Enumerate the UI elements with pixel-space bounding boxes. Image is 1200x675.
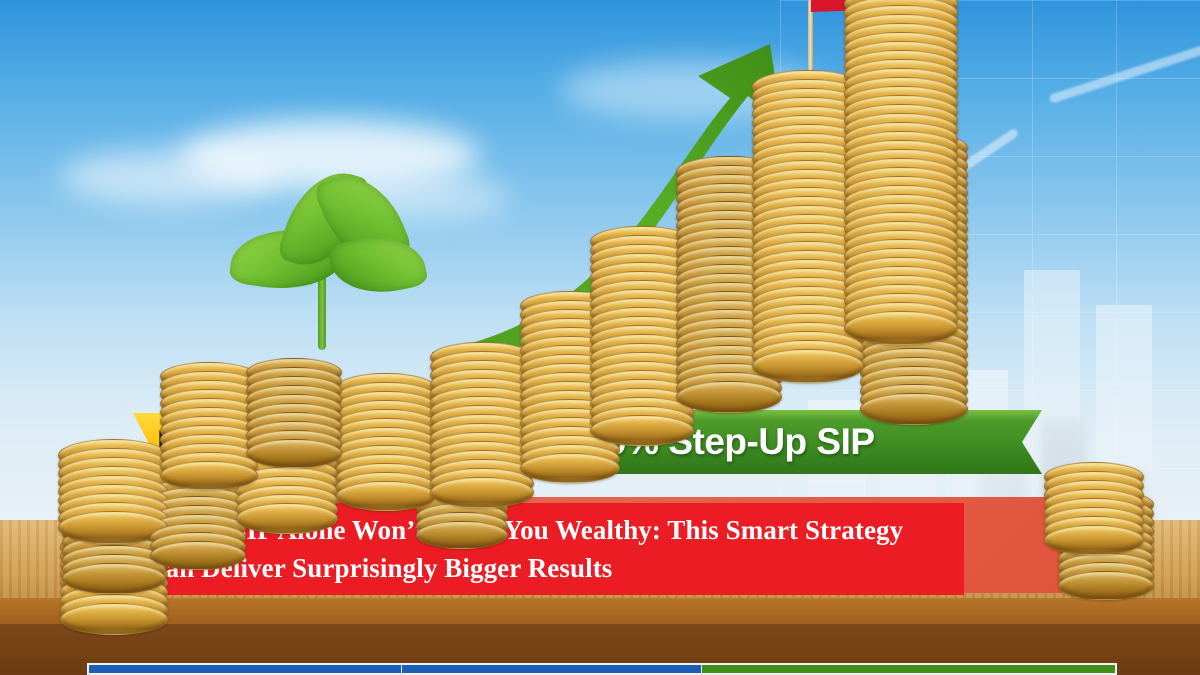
coin-stack (160, 362, 258, 486)
headline-line-2: Can Deliver Surprisingly Bigger Results (146, 550, 948, 588)
coin (520, 453, 620, 483)
coin (1058, 571, 1154, 600)
growth-plant-icon (232, 140, 422, 350)
coin (752, 349, 864, 383)
tab-segment-3[interactable] (702, 665, 1115, 673)
tab-segment-2[interactable] (402, 665, 702, 673)
bottom-tab-bar[interactable] (87, 663, 1117, 675)
coin (416, 521, 508, 549)
table-edge (0, 598, 1200, 624)
coin (160, 461, 258, 490)
coin-stack (1044, 462, 1144, 550)
coin (844, 311, 958, 345)
coin (1044, 525, 1144, 555)
coin (60, 603, 168, 635)
tab-segment-1[interactable] (89, 665, 402, 673)
coin (150, 541, 246, 570)
ghost-trend-line (1049, 37, 1200, 104)
coin-stack (844, 0, 958, 336)
coin-stack (430, 342, 534, 502)
promo-thumbnail: Normal SIP 10% Step-Up SIP ₹5,000 SIP Al… (0, 0, 1200, 675)
coin (336, 481, 436, 511)
coin (676, 381, 782, 413)
coin-stack (246, 358, 342, 464)
coin (246, 439, 342, 468)
coin (590, 415, 694, 446)
coin-stack (58, 439, 168, 536)
coin (430, 477, 534, 508)
coin (860, 393, 968, 425)
coin (62, 563, 166, 594)
coin-stack (336, 373, 436, 506)
coin (236, 503, 338, 534)
